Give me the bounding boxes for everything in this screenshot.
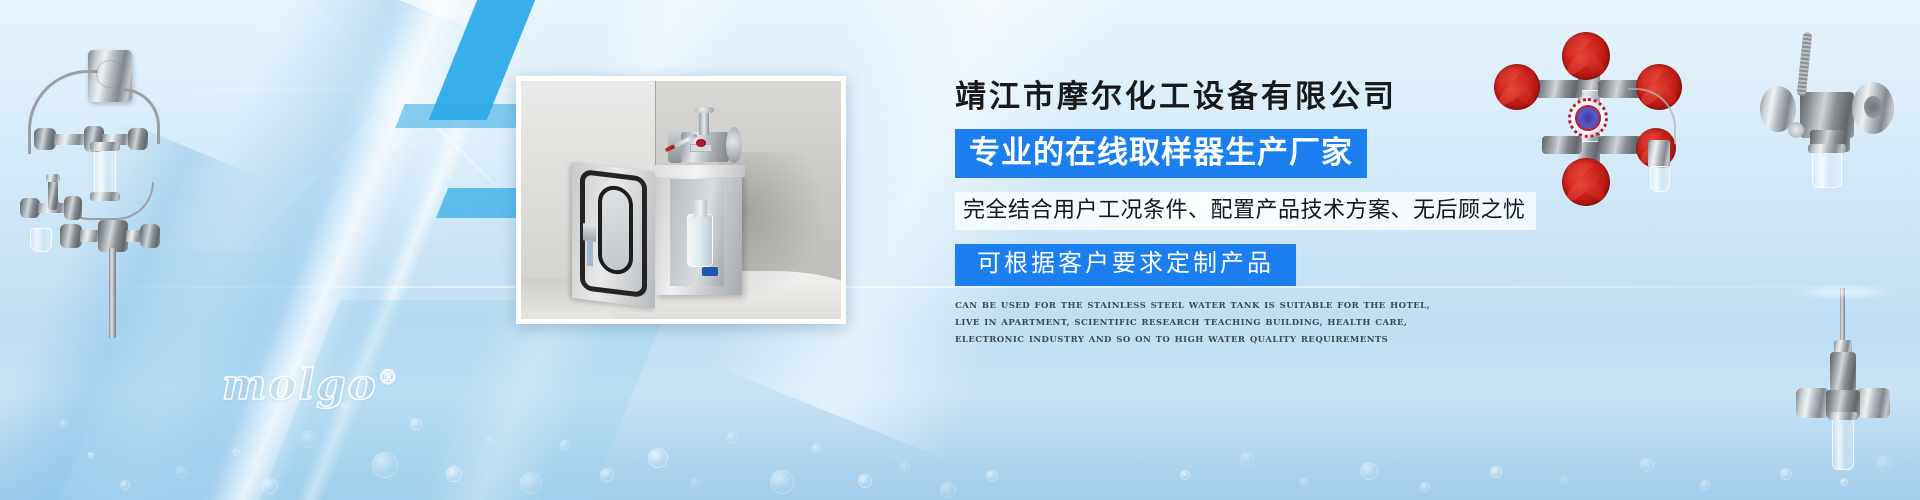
water-droplet — [1700, 480, 1710, 490]
water-droplet — [560, 440, 570, 450]
water-droplet — [648, 448, 668, 468]
water-droplet — [300, 430, 318, 448]
water-droplet — [600, 468, 614, 482]
water-droplet — [232, 448, 240, 456]
water-droplet — [1180, 470, 1190, 480]
photo-door-key — [587, 240, 593, 267]
water-droplet — [120, 480, 130, 490]
water-droplet — [88, 452, 94, 458]
water-droplet — [486, 436, 494, 444]
sun-ray — [399, 0, 402, 90]
water-droplet — [986, 470, 998, 482]
handwheel-icon-top — [1562, 32, 1610, 80]
photo-sampler-valve — [668, 110, 742, 170]
brand-watermark-text: molgo — [222, 360, 378, 409]
photo-bottle-neck — [694, 200, 707, 217]
sun-ray — [399, 90, 402, 200]
sun-ray — [264, 53, 401, 91]
cta-badge: 可根据客户要求定制产品 — [955, 244, 1296, 286]
banner-copy: 靖江市摩尔化工设备有限公司 专业的在线取样器生产厂家 完全结合用户工况条件、配置… — [955, 78, 1595, 350]
water-droplet — [1490, 466, 1502, 478]
company-name: 靖江市摩尔化工设备有限公司 — [955, 78, 1595, 117]
right-equipment-inline-sampler — [1780, 288, 1910, 488]
sun-ray — [224, 0, 401, 91]
subline-band: 完全结合用户工况条件、配置产品技术方案、无后顾之忧 — [955, 192, 1536, 229]
sun-ray — [334, 0, 400, 90]
product-banner: 靖江市摩尔化工设备有限公司 专业的在线取样器生产厂家 完全结合用户工况条件、配置… — [0, 0, 1920, 500]
water-droplet — [900, 462, 910, 472]
water-droplet — [1560, 476, 1568, 484]
water-droplet — [770, 470, 794, 494]
left-equipment-illustration — [10, 30, 190, 320]
sun-ray — [232, 0, 401, 91]
water-droplet — [1640, 458, 1654, 472]
sun-ray — [352, 0, 401, 90]
subline-text: 完全结合用户工况条件、配置产品技术方案、无后顾之忧 — [963, 197, 1526, 223]
water-droplet — [1240, 452, 1254, 466]
water-droplet — [372, 452, 398, 478]
english-caption: CAN BE USED FOR THE STAINLESS STEEL WATE… — [955, 298, 1455, 350]
water-droplet — [812, 444, 820, 452]
headline-text: 专业的在线取样器生产厂家 — [969, 135, 1353, 171]
water-droplet — [410, 418, 422, 430]
water-droplet — [446, 466, 462, 482]
sun-ray — [202, 89, 400, 143]
product-photo — [516, 76, 846, 324]
water-droplet — [176, 466, 188, 478]
photo-door-window — [598, 184, 633, 276]
water-droplet — [1360, 462, 1378, 480]
water-droplet — [1300, 478, 1308, 486]
water-droplet — [690, 478, 700, 488]
water-droplet — [726, 432, 738, 444]
sun-ray — [399, 0, 431, 90]
brand-watermark: molgo® — [222, 360, 400, 409]
cta-text: 可根据客户要求定制产品 — [977, 250, 1274, 279]
water-droplet — [1420, 482, 1430, 492]
right-equipment-lever-valve — [1752, 34, 1902, 204]
water-droplet — [940, 482, 956, 498]
water-droplet — [60, 420, 68, 428]
sun-ray — [268, 89, 400, 166]
photo-sample-bottle — [687, 214, 713, 266]
photo-valve-seal-icon — [696, 139, 706, 147]
photo-bottle-cap — [702, 267, 718, 277]
photo-door-lock — [583, 223, 596, 241]
water-droplet — [858, 474, 872, 488]
headline-badge: 专业的在线取样器生产厂家 — [955, 129, 1367, 179]
sun-ray — [357, 90, 401, 248]
accent-shape-blue-2 — [395, 104, 525, 128]
water-droplet — [520, 472, 542, 494]
water-droplet — [262, 478, 278, 494]
registered-trademark-icon: ® — [378, 365, 400, 389]
